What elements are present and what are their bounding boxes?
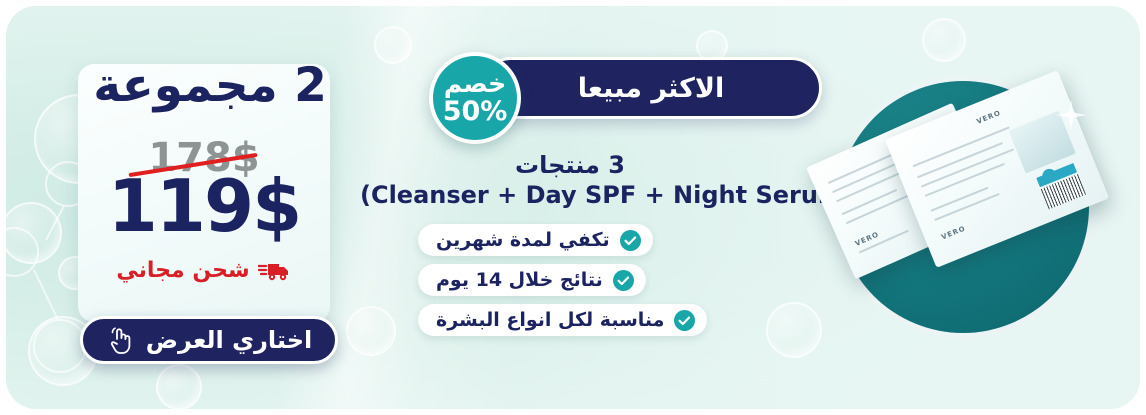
promo-banner: 2 مجموعة 178$ 119$ شحن مجاني اختاري العر… — [0, 0, 1146, 415]
feature-item: نتائج خلال 14 يوم — [418, 264, 646, 296]
feature-item: مناسبة لكل انواع البشرة — [418, 304, 707, 336]
new-price: 119$ — [78, 170, 330, 242]
feature-label: نتائج خلال 14 يوم — [436, 269, 603, 291]
discount-word: خصم — [444, 71, 506, 96]
feature-list: تكفي لمدة شهرين نتائج خلال 14 يوم مناسبة… — [418, 224, 707, 336]
product-image: VERO VERO VERO — [808, 52, 1116, 360]
background-bubble — [346, 306, 396, 356]
description-line-2: (Cleanser + Day SPF + Night Serum) — [360, 180, 780, 210]
choose-offer-button[interactable]: اختاري العرض — [80, 316, 338, 364]
delivery-truck-icon — [258, 259, 292, 283]
feature-label: تكفي لمدة شهرين — [436, 229, 610, 251]
free-shipping-label: شحن مجاني — [116, 258, 249, 283]
sparkle-icon — [1054, 98, 1088, 132]
tap-hand-icon — [106, 325, 134, 355]
check-circle-icon — [620, 230, 641, 251]
offer-headline: 2 مجموعة — [60, 58, 360, 113]
check-circle-icon — [674, 310, 695, 331]
cta-label: اختاري العرض — [146, 326, 313, 354]
bestseller-label: الاكثر مبيعا — [578, 73, 724, 104]
discount-badge: خصم 50% — [429, 52, 521, 144]
product-description: 3 منتجات (Cleanser + Day SPF + Night Ser… — [360, 150, 780, 210]
background-bubble — [374, 26, 412, 64]
free-shipping-row: شحن مجاني — [78, 258, 330, 283]
bestseller-pill: الاكثر مبيعا — [480, 57, 822, 119]
discount-percent: 50% — [443, 98, 508, 125]
feature-item: تكفي لمدة شهرين — [418, 224, 653, 256]
description-line-1: 3 منتجات — [360, 150, 780, 180]
check-circle-icon — [613, 270, 634, 291]
feature-label: مناسبة لكل انواع البشرة — [436, 309, 664, 331]
